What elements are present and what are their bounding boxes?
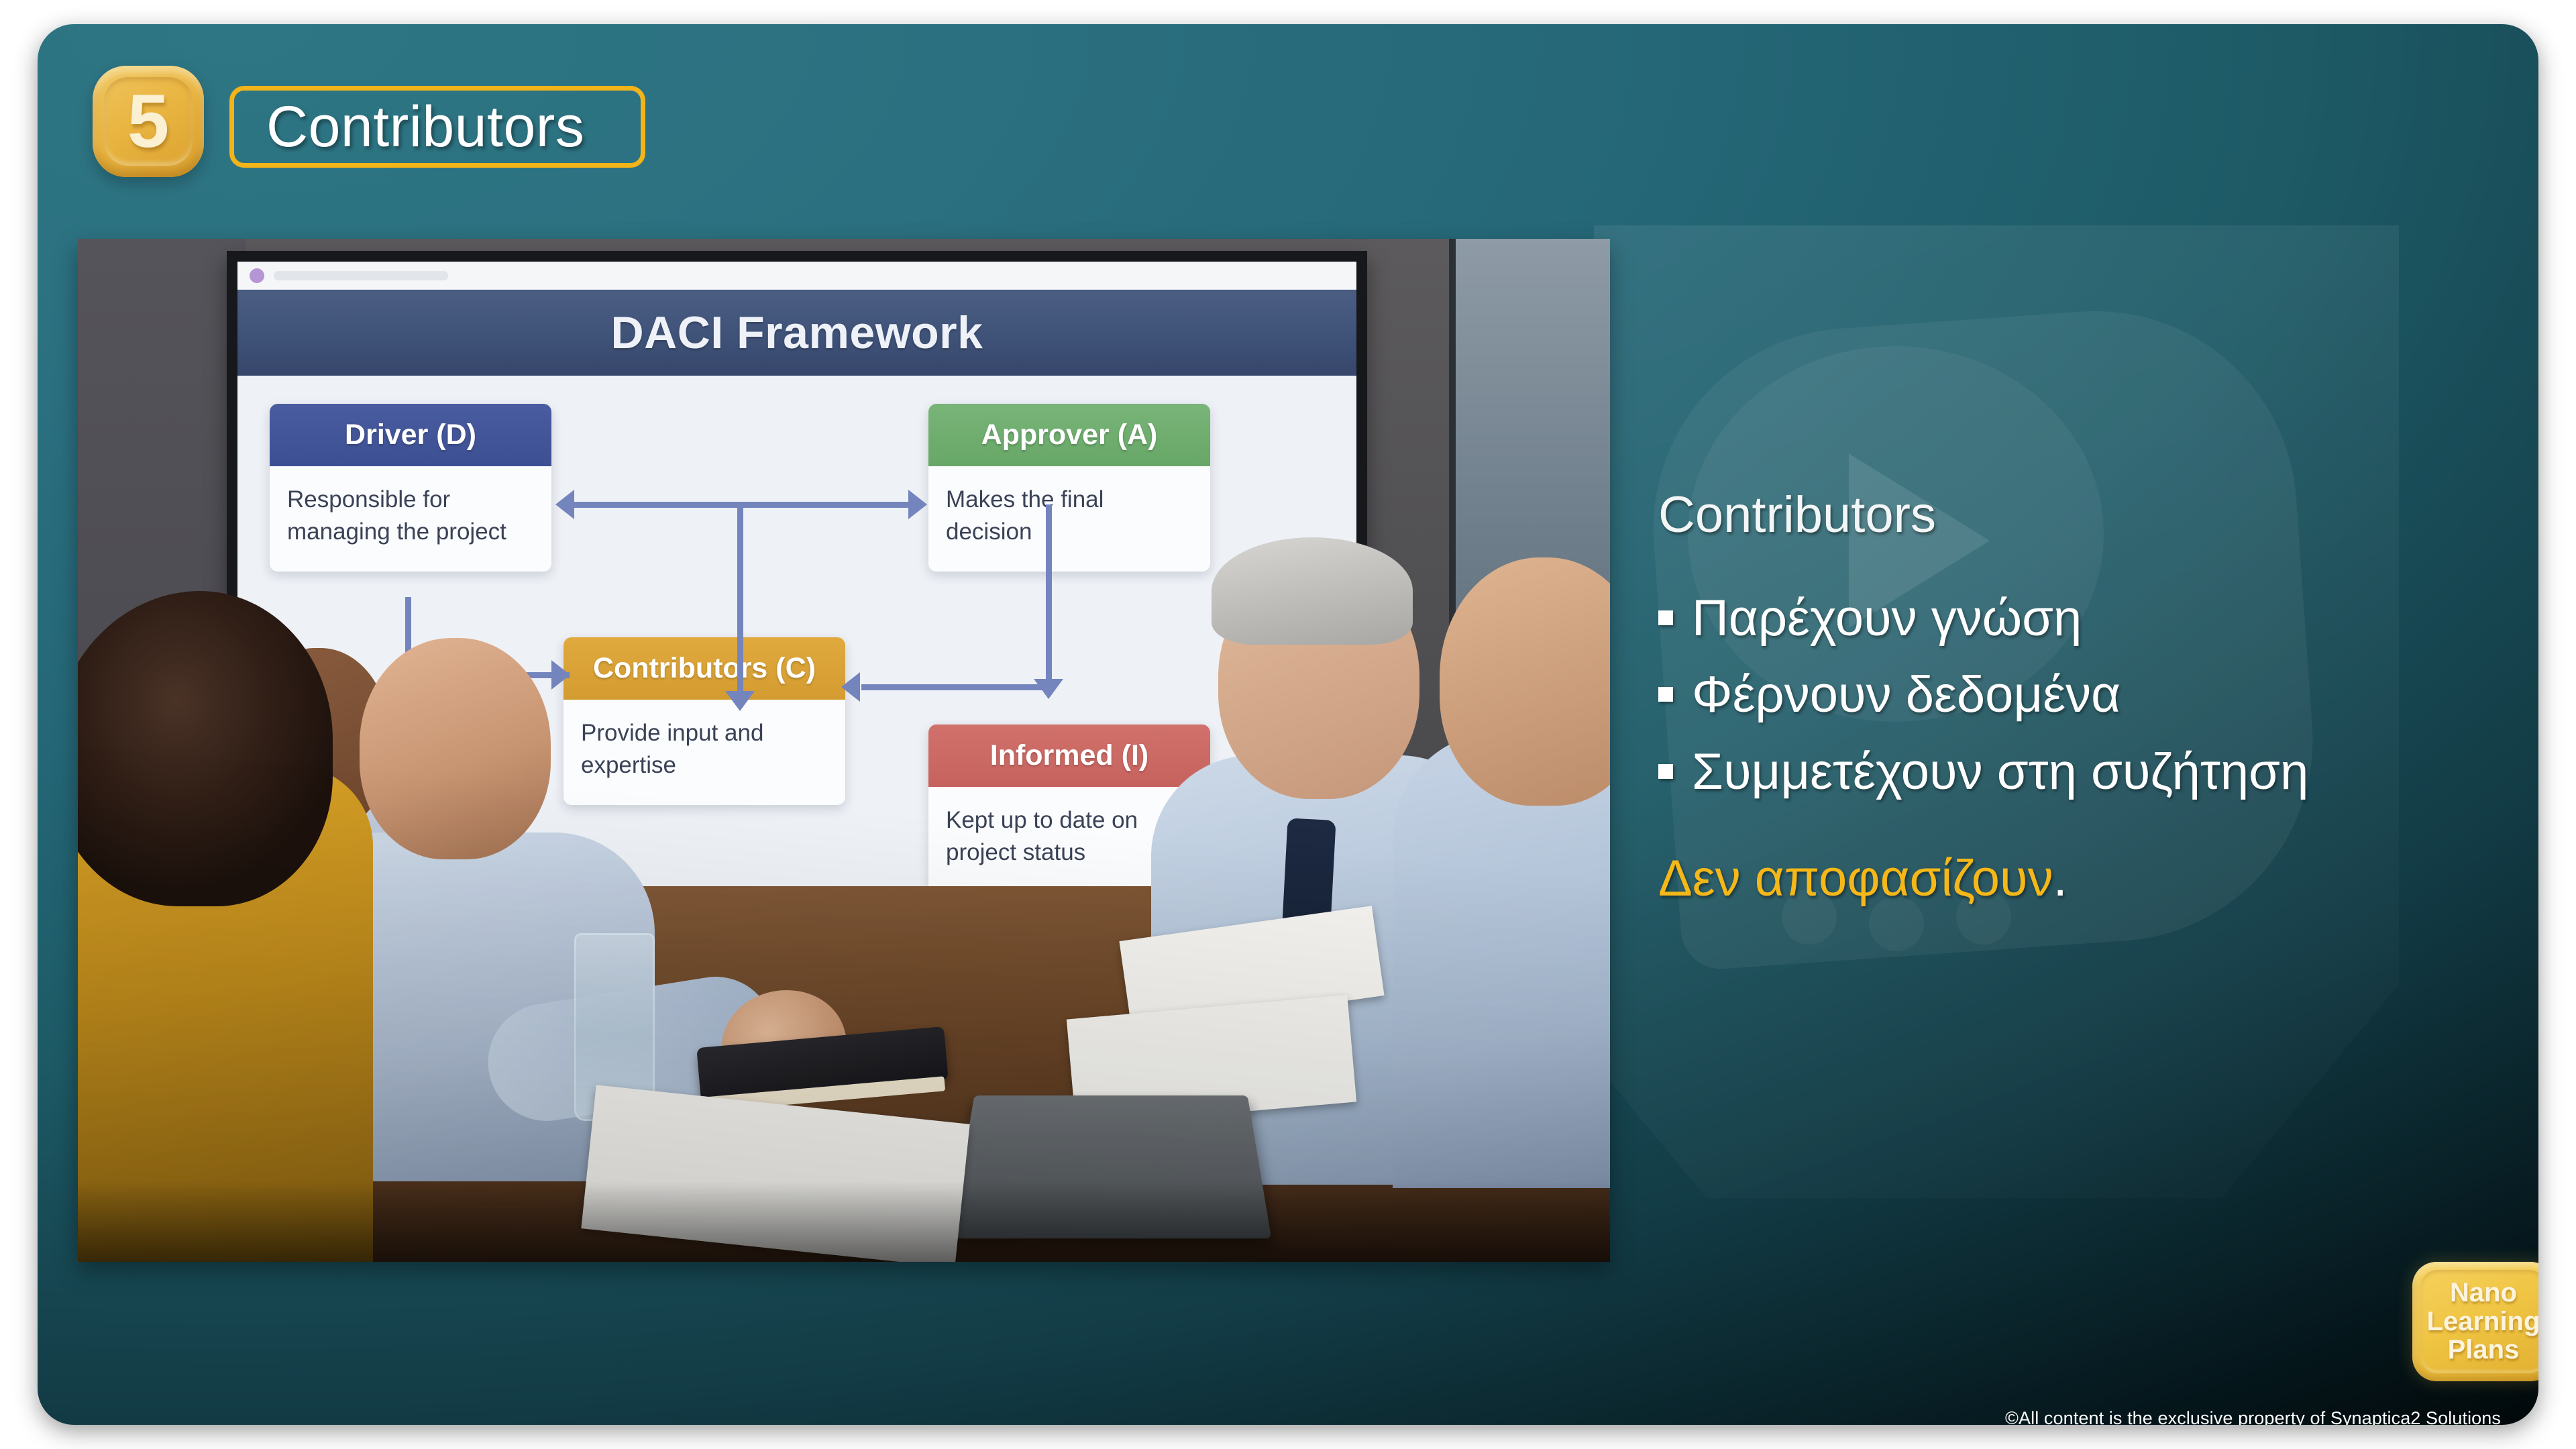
closing-statement-period: . (2053, 850, 2068, 907)
closing-statement: Δεν αποφασίζουν. (1658, 848, 2483, 909)
slide-number-label: 5 (127, 84, 169, 159)
slide-title-box: Contributors (229, 86, 645, 168)
bullet-square-icon (1658, 687, 1673, 702)
slide-number-badge: 5 (93, 66, 204, 177)
content-heading: Contributors (1658, 487, 2483, 543)
bullet-square-icon (1658, 610, 1673, 625)
closing-statement-text: Δεν αποφασίζουν (1658, 850, 2053, 907)
slide-body-content: Contributors Παρέχουν γνώση Φέρνουν δεδο… (1658, 487, 2483, 909)
photo-vignette (78, 239, 1610, 1262)
logo-line-1: Nano (2450, 1279, 2517, 1307)
logo-line-3: Plans (2448, 1336, 2520, 1364)
slide-header: 5 Contributors (38, 24, 2538, 199)
meeting-photo: DACI Framework Driver (D) Responsible fo… (78, 239, 1610, 1262)
list-item: Φέρνουν δεδομένα (1658, 664, 2483, 727)
list-item-label: Φέρνουν δεδομένα (1692, 664, 2121, 727)
list-item-label: Παρέχουν γνώση (1692, 588, 2082, 650)
copyright-notice: ©All content is the exclusive property o… (2005, 1408, 2501, 1425)
list-item: Παρέχουν γνώση (1658, 588, 2483, 650)
bullet-list: Παρέχουν γνώση Φέρνουν δεδομένα Συμμετέχ… (1658, 588, 2483, 804)
brand-logo: Nano Learning Plans (2412, 1262, 2538, 1381)
bullet-square-icon (1658, 764, 1673, 779)
logo-line-2: Learning (2427, 1307, 2538, 1336)
list-item-label: Συμμετέχουν στη συζήτηση (1692, 741, 2308, 804)
list-item: Συμμετέχουν στη συζήτηση (1658, 741, 2483, 804)
page-title: Contributors (266, 98, 584, 156)
presentation-slide: 5 Contributors DACI Framework Drive (38, 24, 2538, 1425)
